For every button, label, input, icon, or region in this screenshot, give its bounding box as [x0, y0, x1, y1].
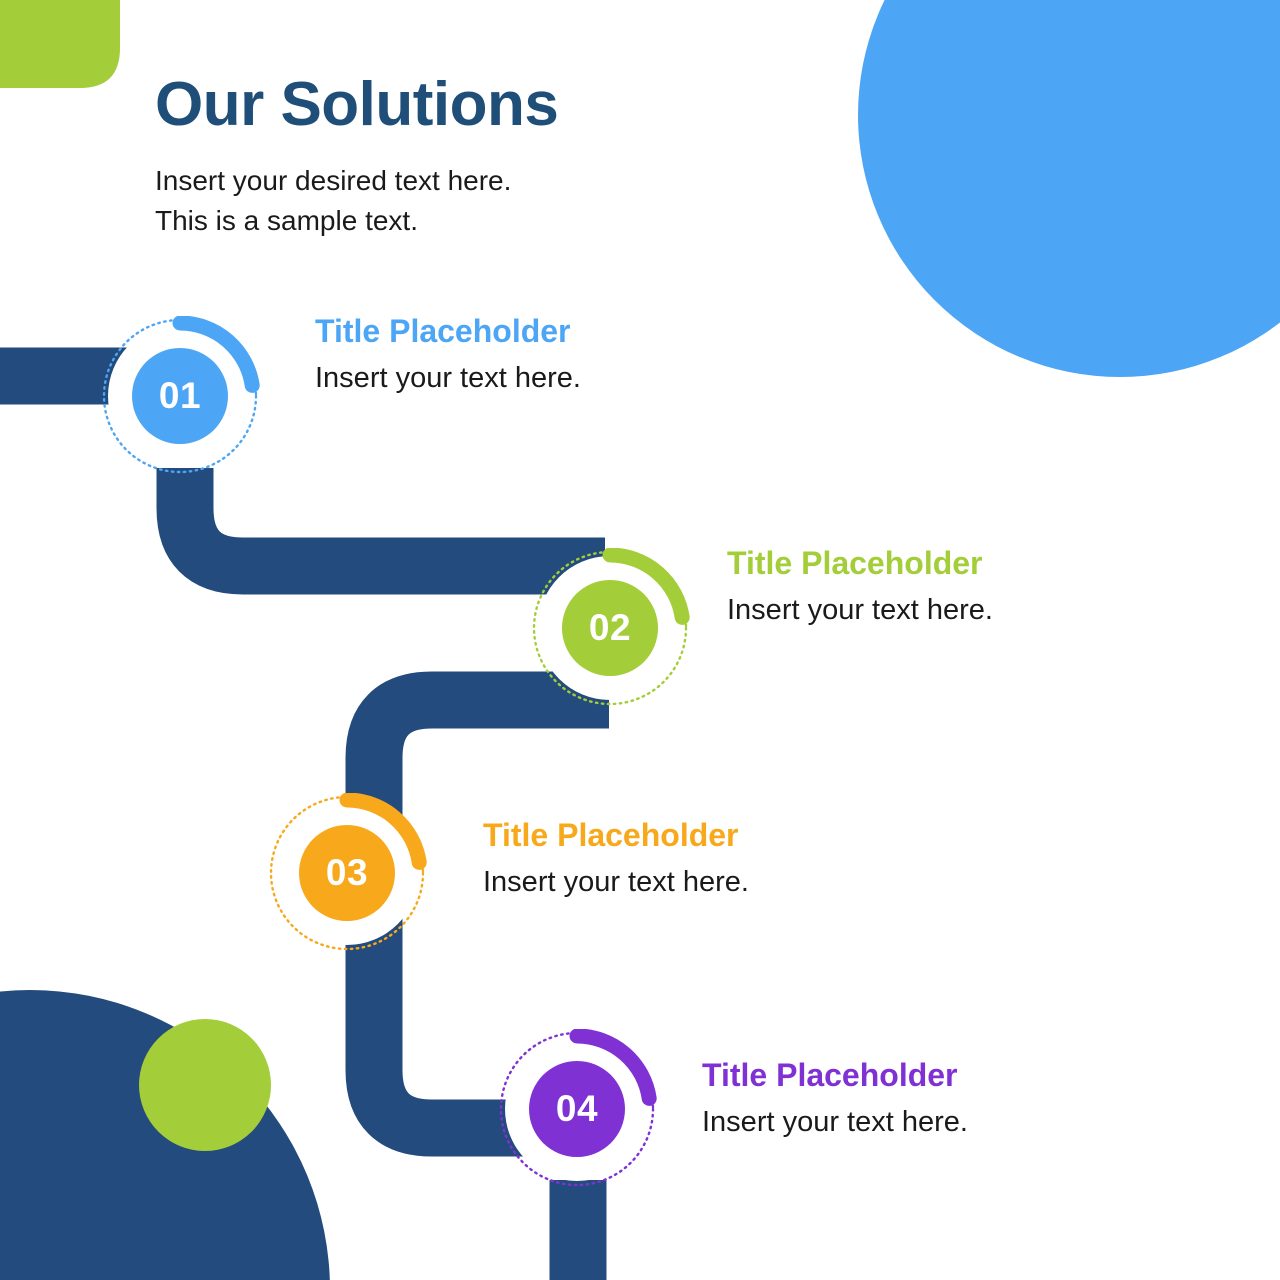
step-title: Title Placeholder: [483, 817, 749, 854]
page-subtitle-line-1: Insert your desired text here.: [155, 161, 855, 201]
page-subtitle-line-2: This is a sample text.: [155, 201, 855, 241]
badge-inner-disc: [562, 580, 658, 676]
page-subtitle: Insert your desired text here. This is a…: [155, 161, 855, 241]
step-description: Insert your text here.: [702, 1105, 968, 1140]
step-description: Insert your text here.: [483, 865, 749, 900]
slide-canvas: Our Solutions Insert your desired text h…: [0, 0, 1280, 1280]
step-title: Title Placeholder: [702, 1057, 968, 1094]
badge-inner-disc: [299, 825, 395, 921]
page-title: Our Solutions: [155, 72, 855, 137]
step-description: Insert your text here.: [727, 593, 993, 628]
step-text-block-03: Title Placeholder Insert your text here.: [483, 817, 749, 900]
step-description: Insert your text here.: [315, 361, 581, 396]
badge-inner-disc: [132, 348, 228, 444]
header-block: Our Solutions Insert your desired text h…: [155, 72, 855, 241]
step-badge-04[interactable]: 04: [497, 1029, 657, 1189]
step-badge-03[interactable]: 03: [267, 793, 427, 953]
step-title: Title Placeholder: [315, 313, 581, 350]
badge-inner-disc: [529, 1061, 625, 1157]
step-badge-01[interactable]: 01: [100, 316, 260, 476]
step-title: Title Placeholder: [727, 545, 993, 582]
step-text-block-02: Title Placeholder Insert your text here.: [727, 545, 993, 628]
step-text-block-01: Title Placeholder Insert your text here.: [315, 313, 581, 396]
step-text-block-04: Title Placeholder Insert your text here.: [702, 1057, 968, 1140]
step-badge-02[interactable]: 02: [530, 548, 690, 708]
